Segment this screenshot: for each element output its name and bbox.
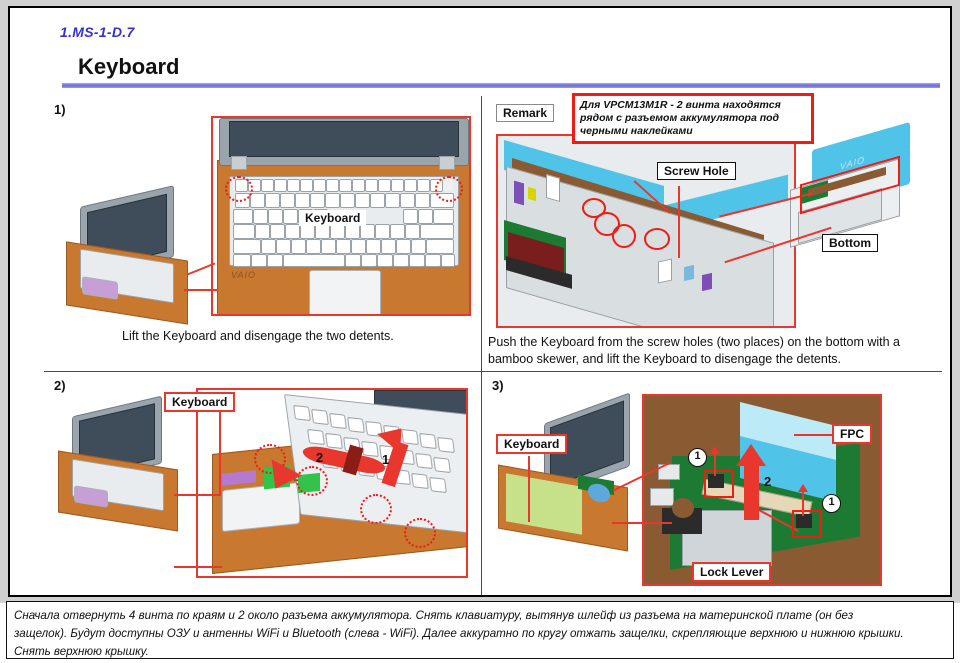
step-remark-caption: Push the Keyboard from the screw holes (… (488, 334, 934, 368)
bottom-note-line-3: Снять верхнюю крышку. (14, 643, 946, 661)
step-3-arrow-small-2-head (798, 484, 808, 492)
latch-box-left (704, 470, 734, 498)
step-2-leader-3 (174, 566, 222, 568)
bottom-note-line-1: Сначала отвернуть 4 винта по краям и 2 о… (14, 607, 946, 625)
step-1-number: 1) (54, 102, 66, 117)
bottom-note-line-2: защелок). Будут доступны ОЗУ и антенны W… (14, 625, 946, 643)
title-rule (62, 83, 940, 88)
latch-box-right (792, 510, 822, 538)
detent-marker-right (435, 176, 463, 202)
step-2-arrow-1-number: 1 (382, 452, 389, 467)
step-3-callout-1a: 1 (688, 448, 707, 467)
step-2-illustration: 1 2 (196, 388, 468, 578)
step-3-arrow-2-number: 2 (764, 474, 771, 489)
step-3-callout-1b: 1 (822, 494, 841, 513)
step-1-illustration: Keyboard VAIO (211, 116, 471, 316)
fpc-label: FPC (832, 424, 872, 444)
step-2-detent-2 (296, 466, 328, 496)
step-1-leader-line-2 (184, 289, 218, 291)
page-title: Keyboard (78, 54, 179, 80)
step-3-cell: 3) Keyboard (482, 372, 942, 595)
document-code: 1.MS-1-D.7 (60, 24, 135, 40)
step-3-arrow-small-1-head (710, 446, 720, 454)
bottom-instruction-box: Сначала отвернуть 4 винта по краям и 2 о… (6, 601, 954, 659)
screw-hole-ring-3 (612, 224, 636, 248)
step-2-cell: 2) (44, 372, 481, 595)
steps-grid: 1) (44, 96, 942, 595)
step-1-cell: 1) (44, 96, 481, 371)
step-3-arrow-small-2 (802, 490, 804, 516)
step-2-detent-4 (404, 518, 436, 548)
vaio-logo: VAIO (231, 270, 256, 280)
step-2-leader-1 (174, 494, 220, 496)
step-3-number: 3) (492, 378, 504, 393)
russian-remark-note: Для VPCM13M1R - 2 винта находятся рядом … (572, 93, 814, 144)
step-remark-illustration (496, 134, 796, 328)
step-2-arrow-2-number: 2 (316, 450, 323, 465)
step-3-leader-2 (612, 522, 672, 524)
step-1-caption: Lift the Keyboard and disengage the two … (122, 328, 422, 345)
step-3-keyboard-leader (528, 456, 530, 522)
step-3-keyboard-label: Keyboard (496, 434, 567, 454)
step-2-number: 2) (54, 378, 66, 393)
remark-label: Remark (496, 104, 554, 122)
step-3-arrow-2-shaft (744, 462, 759, 520)
lock-lever-label: Lock Lever (692, 562, 771, 582)
step-3-illustration: 1 1 2 (642, 394, 882, 586)
detent-marker-left (225, 176, 253, 202)
screw-hole-leader-2 (678, 186, 680, 258)
step-3-arrow-2-head (736, 444, 766, 466)
step-2-keyboard-label: Keyboard (164, 392, 235, 412)
screw-hole-ring-4 (644, 228, 670, 250)
step-2-detent-3 (360, 494, 392, 524)
bottom-label: Bottom (822, 234, 878, 252)
fpc-leader (794, 434, 836, 436)
step-3-arrow-small-1 (714, 452, 716, 476)
step-1-keyboard-label: Keyboard (299, 210, 366, 226)
screw-hole-label: Screw Hole (657, 162, 736, 180)
manual-page: 1.MS-1-D.7 Keyboard 1) (0, 0, 960, 663)
